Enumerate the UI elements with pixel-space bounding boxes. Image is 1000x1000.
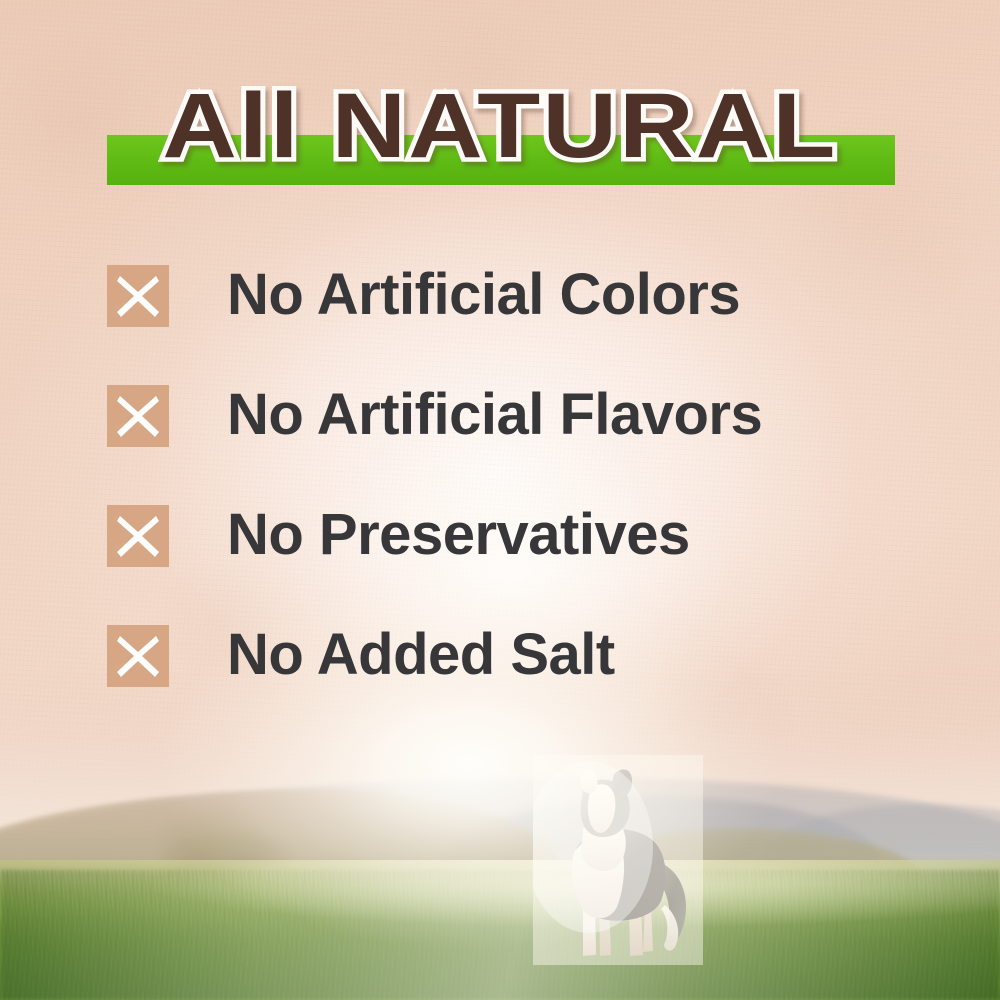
list-item: No Added Salt [107,625,907,745]
list-item: No Artificial Flavors [107,385,907,505]
x-mark-icon [107,505,169,567]
all-natural-poster: All NATURAL No Artificial Colors No Arti… [0,0,1000,1000]
page-title: All NATURAL [0,76,1000,176]
benefits-list: No Artificial Colors No Artificial Flavo… [107,265,907,745]
headline-banner: All NATURAL [0,76,1000,192]
benefit-label: No Artificial Flavors [227,375,762,455]
dog-photo-subject [533,755,703,965]
x-mark-icon [107,265,169,327]
list-item: No Artificial Colors [107,265,907,385]
list-item: No Preservatives [107,505,907,625]
x-mark-icon [107,625,169,687]
sunlight-sweep [0,860,1000,1000]
benefit-label: No Artificial Colors [227,255,740,335]
benefit-label: No Preservatives [227,495,690,575]
x-mark-icon [107,385,169,447]
benefit-label: No Added Salt [227,615,615,695]
